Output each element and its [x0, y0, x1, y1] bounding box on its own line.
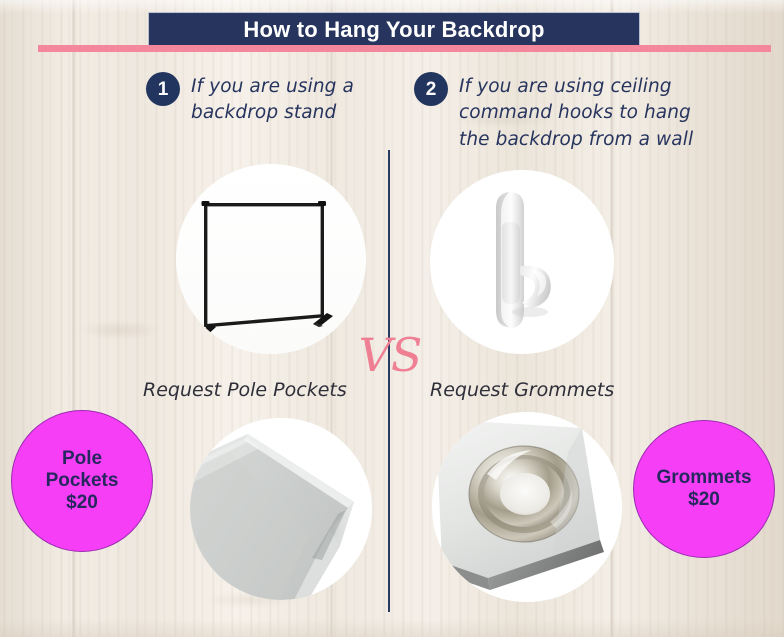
step-1-description: If you are using a backdrop stand: [191, 72, 354, 127]
step-1-number-badge: 1: [146, 72, 180, 106]
page-title: How to Hang Your Backdrop: [243, 17, 544, 43]
badge-right-line-1: Grommets: [656, 467, 751, 489]
price-badge-left-text: Pole Pockets $20: [46, 448, 119, 514]
step-1-header: 1 If you are using a backdrop stand: [146, 72, 386, 127]
command-hook-icon: [430, 170, 614, 354]
step-2-line-1: If you are using ceiling: [459, 74, 693, 100]
badge-left-line-3: $20: [46, 492, 119, 514]
metal-grommet-icon: [432, 412, 622, 602]
title-accent-rule: [38, 45, 771, 52]
caption-grommets: Request Grommets: [430, 379, 614, 401]
step-2-number-badge: 2: [414, 72, 448, 106]
step-2-description: If you are using ceiling command hooks t…: [459, 72, 693, 153]
badge-left-line-1: Pole: [46, 448, 119, 470]
step-2-line-3: the backdrop from a wall: [459, 127, 693, 153]
step-1-line-1: If you are using a: [191, 74, 354, 100]
command-hook-photo: [430, 170, 614, 354]
grommet-photo: [432, 412, 622, 602]
price-badge-pole-pockets[interactable]: Pole Pockets $20: [11, 410, 153, 552]
price-badge-right-text: Grommets $20: [656, 467, 751, 511]
step-1-line-2: backdrop stand: [191, 100, 354, 126]
step-2-header: 2 If you are using ceiling command hooks…: [414, 72, 724, 153]
page-title-bar: How to Hang Your Backdrop: [148, 12, 640, 48]
caption-pole-pockets: Request Pole Pockets: [143, 379, 347, 401]
versus-label: VS: [352, 332, 428, 378]
badge-right-line-2: $20: [656, 489, 751, 511]
pole-pocket-fabric-photo: [190, 418, 372, 600]
folded-fabric-icon: [190, 418, 372, 600]
badge-left-line-2: Pockets: [46, 470, 119, 492]
backdrop-stand-icon: [176, 164, 366, 354]
price-badge-grommets[interactable]: Grommets $20: [633, 420, 775, 558]
infographic-canvas: How to Hang Your Backdrop 1 If you are u…: [0, 0, 784, 637]
step-2-line-2: command hooks to hang: [459, 100, 693, 126]
backdrop-stand-photo: [176, 164, 366, 354]
